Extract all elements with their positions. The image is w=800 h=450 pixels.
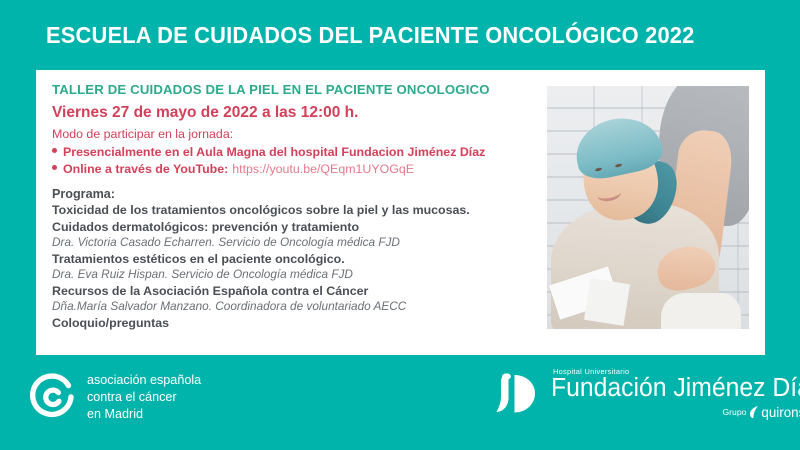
program-heading: Programa: bbox=[52, 187, 532, 201]
program-speaker: Dra. Eva Ruiz Hispan. Servicio de Oncolo… bbox=[52, 267, 532, 283]
bullet-dot-icon bbox=[52, 165, 57, 170]
poster-root: ESCUELA DE CUIDADOS DEL PACIENTE ONCOLÓG… bbox=[0, 0, 800, 450]
program-item: Toxicidad de los tratamientos oncológico… bbox=[52, 202, 532, 219]
bullet-text: Presencialmente en el Aula Magna del hos… bbox=[63, 145, 485, 159]
program-item: Cuidados dermatológicos: prevención y tr… bbox=[52, 219, 532, 236]
list-item: Online a través de YouTube: https://yout… bbox=[52, 162, 532, 176]
card-text-column: TALLER DE CUIDADOS DE LA PIEL EN EL PACI… bbox=[52, 82, 532, 332]
program-item: Recursos de la Asociación Española contr… bbox=[52, 283, 532, 300]
fjd-jd-mark-icon bbox=[492, 371, 544, 417]
event-date: Viernes 27 de mayo de 2022 a las 12:00 h… bbox=[52, 104, 532, 122]
patient-lap bbox=[661, 293, 741, 329]
aecc-line-3: en Madrid bbox=[87, 406, 201, 423]
leaflet-paper bbox=[584, 278, 630, 326]
aecc-wordmark: asociación española contra el cáncer en … bbox=[87, 372, 201, 423]
list-item: Presencialmente en el Aula Magna del hos… bbox=[52, 145, 532, 159]
fjd-wordmark: Hospital Universitario Fundación Jiménez… bbox=[551, 367, 800, 420]
program-block: Programa: Toxicidad de los tratamientos … bbox=[52, 187, 532, 332]
quironsalud-logo: Grupo quironsalud bbox=[551, 405, 800, 420]
program-speaker: Dra. Victoria Casado Echarren. Servicio … bbox=[52, 235, 532, 251]
aecc-line-2: contra el cáncer bbox=[87, 389, 201, 406]
participate-label: Modo de participar en la jornada: bbox=[52, 127, 532, 141]
quironsalud-leaf-icon bbox=[750, 406, 759, 418]
page-title: ESCUELA DE CUIDADOS DEL PACIENTE ONCOLÓG… bbox=[46, 22, 694, 49]
bullet-text: Online a través de YouTube: bbox=[63, 162, 228, 176]
quironsalud-grupo-label: Grupo bbox=[723, 407, 747, 417]
program-item: Tratamientos estéticos en el paciente on… bbox=[52, 251, 532, 268]
photo-frame bbox=[547, 86, 749, 329]
patient-photo bbox=[547, 86, 749, 329]
youtube-link[interactable]: https://youtu.be/QEqm1UYOGqE bbox=[232, 162, 414, 176]
poster-header: ESCUELA DE CUIDADOS DEL PACIENTE ONCOLÓG… bbox=[0, 0, 800, 70]
fjd-name: Fundación Jiménez Díaz bbox=[551, 375, 800, 402]
quironsalud-name: quironsalud bbox=[761, 405, 800, 420]
content-card: TALLER DE CUIDADOS DE LA PIEL EN EL PACI… bbox=[36, 70, 765, 355]
aecc-c-mark-icon bbox=[28, 373, 76, 421]
bullet-dot-icon bbox=[52, 148, 57, 153]
poster-footer: asociación española contra el cáncer en … bbox=[0, 355, 800, 450]
aecc-line-1: asociación española bbox=[87, 372, 201, 389]
fjd-logo: Hospital Universitario Fundación Jiménez… bbox=[492, 367, 800, 420]
aecc-logo: asociación española contra el cáncer en … bbox=[28, 372, 201, 423]
workshop-title: TALLER DE CUIDADOS DE LA PIEL EN EL PACI… bbox=[52, 82, 532, 97]
program-speaker: Dña.María Salvador Manzano. Coordinadora… bbox=[52, 299, 532, 315]
program-item: Coloquio/preguntas bbox=[52, 315, 532, 332]
